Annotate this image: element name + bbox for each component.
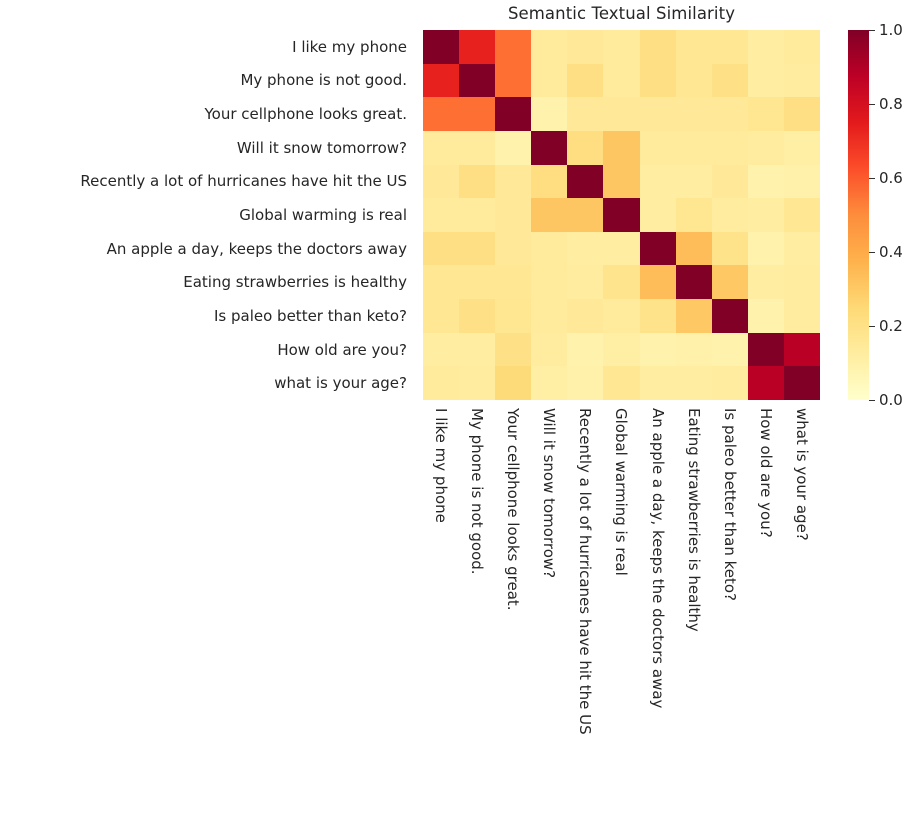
colorbar-tick: [869, 326, 875, 327]
y-tick-label: Will it snow tomorrow?: [0, 131, 415, 165]
heatmap-cell: [531, 299, 567, 333]
heatmap-cell: [495, 97, 531, 131]
heatmap-cell: [784, 30, 820, 64]
heatmap-cell: [676, 265, 712, 299]
heatmap-cell: [603, 97, 639, 131]
x-tick-slot: Will it snow tomorrow?: [531, 400, 567, 650]
heatmap-cell: [459, 299, 495, 333]
colorbar-tick-label: 0.2: [879, 317, 903, 335]
y-tick-label: Global warming is real: [0, 198, 415, 232]
y-tick-label: Eating strawberries is healthy: [0, 265, 415, 299]
heatmap-cell: [567, 64, 603, 98]
x-tick-label: Global warming is real: [612, 408, 630, 576]
heatmap-cell: [603, 232, 639, 266]
x-tick-label: what is your age?: [793, 408, 811, 541]
heatmap-cell: [495, 366, 531, 400]
heatmap-cell: [748, 299, 784, 333]
heatmap-cell: [603, 165, 639, 199]
heatmap-cell: [676, 30, 712, 64]
x-tick-label: Your cellphone looks great.: [504, 408, 522, 611]
heatmap-cell: [784, 165, 820, 199]
y-tick-label: An apple a day, keeps the doctors away: [0, 232, 415, 266]
heatmap-cell: [784, 232, 820, 266]
colorbar-gradient: [848, 30, 869, 400]
heatmap-cell: [567, 265, 603, 299]
heatmap-cell: [459, 165, 495, 199]
heatmap-cell: [676, 64, 712, 98]
heatmap-cell: [748, 232, 784, 266]
colorbar-tick: [869, 104, 875, 105]
x-tick-slot: Global warming is real: [603, 400, 639, 650]
heatmap-cell: [748, 30, 784, 64]
heatmap-cell: [640, 131, 676, 165]
heatmap-cell: [784, 131, 820, 165]
heatmap-cell: [712, 299, 748, 333]
heatmap-cell: [712, 333, 748, 367]
heatmap-cell: [423, 333, 459, 367]
x-tick-slot: I like my phone: [423, 400, 459, 650]
heatmap-cell: [712, 64, 748, 98]
heatmap-cell: [531, 333, 567, 367]
heatmap-cell: [748, 333, 784, 367]
x-tick-slot: Your cellphone looks great.: [495, 400, 531, 650]
x-tick-slot: Eating strawberries is healthy: [676, 400, 712, 650]
heatmap-cell: [567, 131, 603, 165]
heatmap-cell: [676, 131, 712, 165]
y-tick-label: How old are you?: [0, 333, 415, 367]
heatmap-cell: [748, 366, 784, 400]
heatmap-cell: [567, 165, 603, 199]
y-tick-label: My phone is not good.: [0, 64, 415, 98]
x-tick-label: My phone is not good.: [468, 408, 486, 575]
heatmap-cell: [567, 232, 603, 266]
heatmap-cell: [423, 165, 459, 199]
heatmap-cell: [423, 97, 459, 131]
heatmap-cell: [531, 265, 567, 299]
heatmap-cell: [676, 198, 712, 232]
heatmap-cell: [495, 333, 531, 367]
heatmap-cell: [748, 97, 784, 131]
heatmap-cell: [712, 198, 748, 232]
heatmap-cell: [784, 198, 820, 232]
heatmap-cell: [459, 198, 495, 232]
heatmap-cell: [603, 333, 639, 367]
heatmap-grid: [423, 30, 820, 400]
colorbar-tick: [869, 400, 875, 401]
heatmap-cell: [784, 366, 820, 400]
heatmap-cell: [495, 131, 531, 165]
heatmap-cell: [712, 165, 748, 199]
heatmap-cell: [495, 299, 531, 333]
heatmap-cell: [784, 333, 820, 367]
y-tick-label: Recently a lot of hurricanes have hit th…: [0, 165, 415, 199]
colorbar-tick-label: 0.4: [879, 243, 903, 261]
heatmap-cell: [495, 165, 531, 199]
colorbar: 1.00.80.60.40.20.0: [848, 30, 869, 400]
heatmap-cell: [676, 165, 712, 199]
colorbar-tick: [869, 30, 875, 31]
heatmap-cell: [567, 198, 603, 232]
x-tick-slot: How old are you?: [748, 400, 784, 650]
x-tick-label: Eating strawberries is healthy: [685, 408, 703, 632]
heatmap-cell: [748, 64, 784, 98]
heatmap-cell: [712, 232, 748, 266]
heatmap-cell: [495, 265, 531, 299]
heatmap-cell: [640, 232, 676, 266]
heatmap-cell: [640, 366, 676, 400]
heatmap-cell: [423, 265, 459, 299]
x-tick-label: An apple a day, keeps the doctors away: [649, 408, 667, 708]
y-axis-tick-labels: I like my phoneMy phone is not good.Your…: [0, 30, 415, 400]
heatmap-cell: [748, 198, 784, 232]
heatmap-cell: [495, 30, 531, 64]
heatmap-cell: [531, 198, 567, 232]
heatmap-cell: [712, 30, 748, 64]
heatmap-cell: [459, 30, 495, 64]
x-tick-slot: An apple a day, keeps the doctors away: [640, 400, 676, 650]
heatmap-cell: [603, 299, 639, 333]
heatmap-cell: [459, 131, 495, 165]
heatmap-cell: [459, 97, 495, 131]
x-tick-label: How old are you?: [757, 408, 775, 538]
heatmap-cell: [784, 64, 820, 98]
x-tick-label: I like my phone: [432, 408, 450, 523]
heatmap-cell: [567, 366, 603, 400]
heatmap-cell: [603, 366, 639, 400]
heatmap-cell: [748, 265, 784, 299]
x-axis-tick-labels: I like my phoneMy phone is not good.Your…: [423, 400, 820, 650]
heatmap-cell: [459, 232, 495, 266]
x-tick-slot: My phone is not good.: [459, 400, 495, 650]
y-tick-label: Your cellphone looks great.: [0, 97, 415, 131]
heatmap-cell: [531, 165, 567, 199]
heatmap-cell: [748, 131, 784, 165]
heatmap-cell: [567, 97, 603, 131]
heatmap-cell: [495, 198, 531, 232]
heatmap-cell: [784, 299, 820, 333]
x-tick-label: Is paleo better than keto?: [721, 408, 739, 601]
heatmap-cell: [531, 64, 567, 98]
heatmap-cell: [459, 333, 495, 367]
heatmap-cell: [423, 30, 459, 64]
heatmap-cell: [640, 198, 676, 232]
y-tick-label: Is paleo better than keto?: [0, 299, 415, 333]
heatmap-cell: [495, 232, 531, 266]
y-tick-label: I like my phone: [0, 30, 415, 64]
page-title: Semantic Textual Similarity: [423, 4, 820, 23]
heatmap-cell: [423, 366, 459, 400]
colorbar-tick: [869, 178, 875, 179]
heatmap-cell: [748, 165, 784, 199]
heatmap-cell: [423, 131, 459, 165]
heatmap-cell: [676, 333, 712, 367]
heatmap-cell: [784, 97, 820, 131]
heatmap-cell: [784, 265, 820, 299]
heatmap-cell: [423, 232, 459, 266]
x-tick-slot: what is your age?: [784, 400, 820, 650]
heatmap-cell: [640, 64, 676, 98]
heatmap-cell: [712, 265, 748, 299]
heatmap-cell: [640, 165, 676, 199]
heatmap-cell: [603, 265, 639, 299]
heatmap-cell: [603, 131, 639, 165]
heatmap-cell: [603, 30, 639, 64]
heatmap-cell: [459, 265, 495, 299]
heatmap-figure: Semantic Textual Similarity I like my ph…: [0, 0, 915, 826]
heatmap-cell: [531, 30, 567, 64]
x-tick-label: Recently a lot of hurricanes have hit th…: [576, 408, 594, 735]
heatmap-cell: [423, 299, 459, 333]
heatmap-cell: [423, 64, 459, 98]
heatmap-cell: [531, 131, 567, 165]
heatmap-cell: [459, 366, 495, 400]
heatmap-cell: [531, 97, 567, 131]
heatmap-cell: [676, 97, 712, 131]
x-tick-slot: Recently a lot of hurricanes have hit th…: [567, 400, 603, 650]
heatmap-cell: [640, 97, 676, 131]
colorbar-tick-label: 0.6: [879, 169, 903, 187]
heatmap-cell: [567, 299, 603, 333]
heatmap-cell: [676, 366, 712, 400]
heatmap-cell: [495, 64, 531, 98]
heatmap-cell: [712, 131, 748, 165]
colorbar-tick-label: 0.8: [879, 95, 903, 113]
heatmap-cell: [531, 232, 567, 266]
heatmap-cell: [676, 232, 712, 266]
heatmap-cell: [712, 97, 748, 131]
heatmap-cell: [531, 366, 567, 400]
heatmap-cell: [640, 299, 676, 333]
heatmap-cell: [567, 333, 603, 367]
heatmap-cell: [640, 30, 676, 64]
x-tick-label: Will it snow tomorrow?: [540, 408, 558, 578]
heatmap-cell: [567, 30, 603, 64]
heatmap-cell: [423, 198, 459, 232]
heatmap-cell: [676, 299, 712, 333]
y-tick-label: what is your age?: [0, 366, 415, 400]
heatmap-cell: [459, 64, 495, 98]
colorbar-tick-label: 0.0: [879, 391, 903, 409]
heatmap-cell: [640, 333, 676, 367]
heatmap-cell: [603, 64, 639, 98]
heatmap-cell: [603, 198, 639, 232]
heatmap-cell: [640, 265, 676, 299]
colorbar-tick: [869, 252, 875, 253]
colorbar-tick-label: 1.0: [879, 21, 903, 39]
x-tick-slot: Is paleo better than keto?: [712, 400, 748, 650]
heatmap-cell: [712, 366, 748, 400]
